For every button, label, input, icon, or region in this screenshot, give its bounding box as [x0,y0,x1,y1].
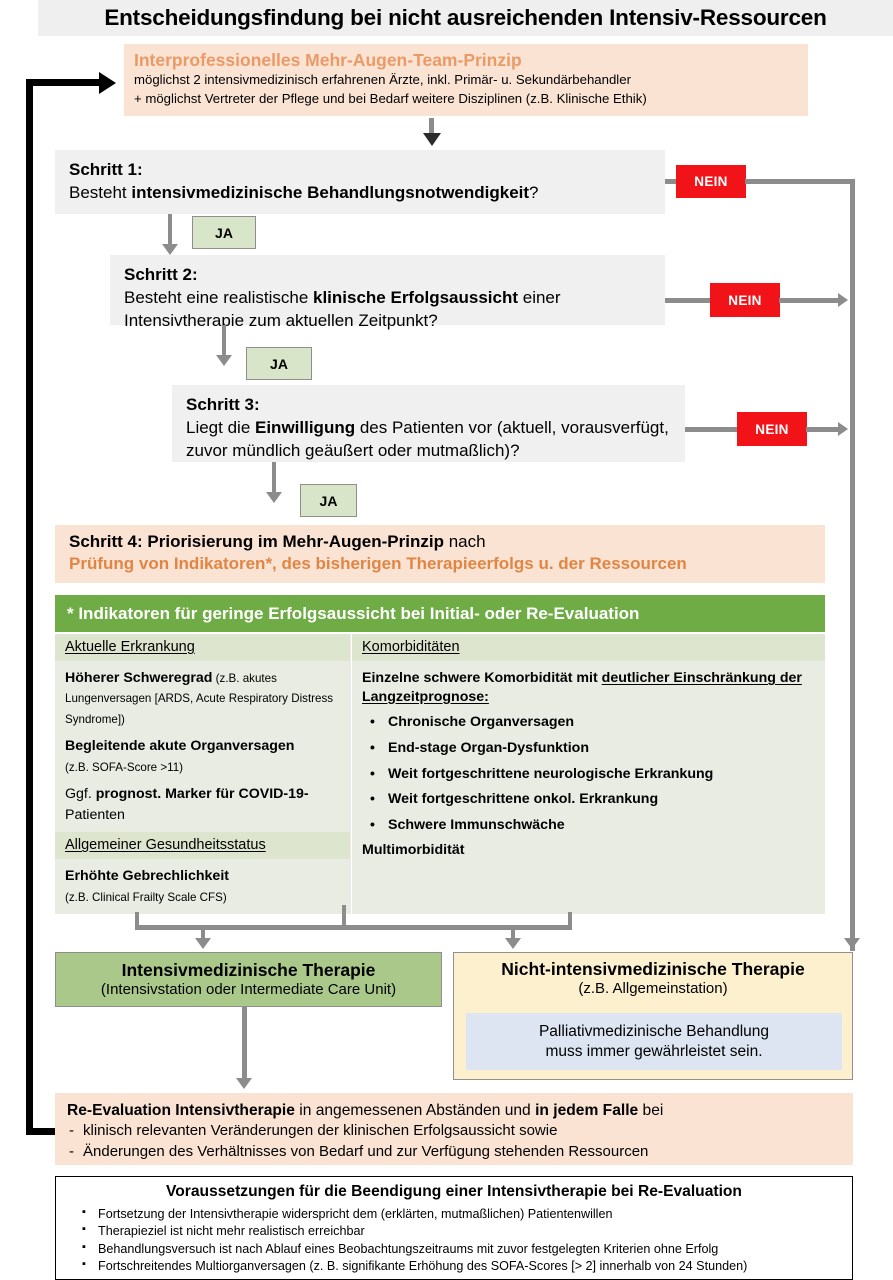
step-2-yes-arrowhead [216,355,232,366]
prerequisites-list: Fortsetzung der Intensivtherapie widersp… [56,1206,852,1275]
list-item: Weit fortgeschrittene neurologische Erkr… [362,766,815,783]
step-1-no-label: NEIN [694,174,727,189]
reevaluation-lead-mid: in angemessenen Abständen und [295,1102,535,1119]
step-3-label: Schritt 3: [186,394,671,416]
indicator-item: Höherer Schweregrad (z.B. akutes Lungenv… [65,668,340,729]
page-title-text: Entscheidungsfindung bei nicht ausreiche… [104,5,826,31]
connector-icu-to-reevaluation [242,1007,247,1080]
reevaluation-lead: Re-Evaluation Intensivtherapie in angeme… [67,1100,853,1121]
step-4-line-1-bold: Schritt 4: Priorisierung im Mehr-Augen-P… [69,532,444,551]
indicators-column-current-illness: Aktuelle Erkrankung Höherer Schweregrad … [55,634,350,914]
non-icu-therapy-subtitle: (z.B. Allgemeinstation) [454,980,852,998]
step-2-yes-label: JA [270,356,288,372]
section-header-general-health-text: Allgemeiner Gesundheitsstatus [65,837,266,853]
feedback-loop-vertical [26,79,33,1135]
icu-therapy-subtitle: (Intensivstation oder Intermediate Care … [101,981,396,999]
outcome-bracket-arrow-right [505,938,521,949]
indicator-item-bold: Erhöhte Gebrechlichkeit [65,868,229,884]
list-item: Therapieziel ist nicht mehr realistisch … [56,1223,852,1240]
list-item: Fortschreitendes Multiorganversagen (z. … [56,1258,852,1275]
step-1-label: Schritt 1: [69,159,651,181]
connector-icu-to-reevaluation-arrowhead [236,1078,252,1089]
step-3-no-label: NEIN [755,422,788,437]
outcome-bracket-stub-left [135,912,139,926]
indicators-header-text: * Indikatoren für geringe Erfolgsaussich… [67,604,639,624]
non-icu-therapy-box: Nicht-intensivmedizinische Therapie (z.B… [453,952,853,1080]
non-icu-therapy-heading: Nicht-intensivmedizinische Therapie [454,959,852,980]
section-header-general-health: Allgemeiner Gesundheitsstatus [55,832,350,859]
comorbidity-lead: Einzelne schwere Komorbidität mit deutli… [362,669,815,706]
step-3-no-line-out [806,427,839,432]
palliative-care-note: Palliativmedizinische Behandlung muss im… [466,1013,842,1070]
step-2-no-arrowhead [838,293,848,307]
indicator-item-detail: (z.B. SOFA-Score >11) [65,761,183,774]
step-1-question: Besteht intensivmedizinische Behandlungs… [69,183,539,202]
step-1-no-line-out [745,179,855,184]
flowchart-canvas: Entscheidungsfindung bei nicht ausreiche… [0,0,893,1280]
list-item: Weit fortgeschrittene onkol. Erkrankung [362,791,815,808]
step-2-question: Besteht eine realistische klinische Erfo… [124,288,561,330]
indicators-table: Aktuelle Erkrankung Höherer Schweregrad … [55,634,825,914]
step-1-question-emphasis: intensivmedizinische Behandlungsnotwendi… [131,183,529,202]
reevaluation-lead-bold-2: in jedem Falle [535,1102,638,1119]
indicators-column-comorbidities: Komorbiditäten Einzelne schwere Komorbid… [351,634,825,914]
list-item: Änderungen des Verhältnisses von Bedarf … [67,1142,853,1163]
step-1-yes-arrowhead [162,244,178,255]
reevaluation-box: Re-Evaluation Intensivtherapie in angeme… [55,1093,853,1165]
step-3-no-line-in [685,427,739,432]
step-1-yes-line [168,214,172,247]
no-branch-trunk-vertical [850,179,855,951]
team-line-1: möglichst 2 intensivmedizinisch erfahren… [134,71,798,90]
indicator-item-bold: Höherer Schweregrad [65,670,212,686]
step-2-no-line-out [779,298,839,303]
step-3-question-emphasis: Einwilligung [255,418,355,437]
icu-therapy-heading: Intensivmedizinische Therapie [122,960,376,981]
step-4-line-2: Prüfung von Indikatoren*, des bisherigen… [69,553,825,575]
step-1-question-pre: Besteht [69,183,131,202]
step-4-line-1: Schritt 4: Priorisierung im Mehr-Augen-P… [69,531,825,553]
palliative-care-line-2: muss immer gewährleistet sein. [545,1042,762,1062]
step-2-no-label: NEIN [728,293,761,308]
step-1-no-badge[interactable]: NEIN [676,165,746,198]
reevaluation-lead-end: bei [638,1102,663,1119]
step-2-yes-line [222,325,226,358]
indicators-header: * Indikatoren für geringe Erfolgsaussich… [55,595,825,632]
feedback-loop-arrowhead [99,72,116,94]
section-header-current-illness: Aktuelle Erkrankung [55,634,350,661]
step-1-yes-badge[interactable]: JA [192,216,256,249]
comorbidity-lead-pre: Einzelne schwere Komorbidität mit [362,670,602,686]
indicator-item-prefix: Ggf. [65,786,96,802]
indicator-item-bold: prognost. Marker für COVID-19- [96,786,309,802]
step-3-yes-arrowhead [266,492,282,503]
interprofessional-team-box: Interprofessionelles Mehr-Augen-Team-Pri… [124,44,808,116]
list-item: klinisch relevanten Veränderungen der kl… [67,1121,853,1142]
step-3-no-badge[interactable]: NEIN [737,412,807,446]
step-2-yes-badge[interactable]: JA [246,347,312,380]
palliative-care-line-1: Palliativmedizinische Behandlung [539,1022,769,1042]
list-item: Behandlungsversuch ist nach Ablauf eines… [56,1241,852,1258]
step-3-yes-label: JA [320,493,338,509]
section-header-current-illness-text: Aktuelle Erkrankung [65,639,195,655]
section-body-current-illness: Höherer Schweregrad (z.B. akutes Lungenv… [55,661,350,825]
step-3-question: Liegt die Einwilligung des Patienten vor… [186,418,669,460]
feedback-loop-top-horizontal [26,79,100,86]
prerequisites-heading: Voraussetzungen für die Beendigung einer… [56,1183,852,1201]
outcome-bracket-arrow-left [195,938,211,949]
step-2-label: Schritt 2: [124,264,651,286]
indicator-item: Ggf. prognost. Marker für COVID-19-Patie… [65,784,340,825]
outcome-bracket-stub-right [568,912,572,926]
comorbidity-final: Multimorbidität [362,842,815,858]
indicator-item: Begleitende akute Organversagen(z.B. SOF… [65,736,340,777]
indicator-item-bold: Begleitende akute Organversagen [65,738,294,754]
reevaluation-lead-bold: Re-Evaluation Intensivtherapie [67,1102,295,1119]
step-4-box: Schritt 4: Priorisierung im Mehr-Augen-P… [55,525,825,583]
step-1-box: Schritt 1: Besteht intensivmedizinische … [55,150,665,214]
list-item: Chronische Organversagen [362,714,815,731]
step-1-yes-label: JA [215,225,233,241]
team-line-2: + möglichst Vertreter der Pflege und bei… [134,90,798,109]
step-2-no-badge[interactable]: NEIN [710,283,780,317]
list-item: End-stage Organ-Dysfunktion [362,740,815,757]
section-header-comorbidities: Komorbiditäten [352,634,825,661]
step-3-yes-line [272,462,276,495]
step-2-box: Schritt 2: Besteht eine realistische kli… [110,255,665,325]
list-item: Schwere Immunschwäche [362,817,815,834]
section-body-comorbidities: Einzelne schwere Komorbidität mit deutli… [352,661,825,858]
page-title: Entscheidungsfindung bei nicht ausreiche… [38,0,893,36]
indicator-item: Erhöhte Gebrechlichkeit(z.B. Clinical Fr… [65,866,340,907]
comorbidity-list: Chronische Organversagen End-stage Organ… [362,714,815,833]
no-branch-trunk-arrowhead [844,938,860,949]
step-3-box: Schritt 3: Liegt die Einwilligung des Pa… [172,385,685,462]
indicator-item-suffix: Patienten [65,807,125,823]
icu-therapy-box: Intensivmedizinische Therapie (Intensivs… [55,952,442,1007]
step-2-question-emphasis: klinische Erfolgsaussicht [313,288,518,307]
outcome-bracket-stub-middle [342,905,346,926]
step-3-no-arrowhead [838,422,848,436]
step-2-question-pre: Besteht eine realistische [124,288,313,307]
section-header-comorbidities-text: Komorbiditäten [362,639,460,655]
step-3-yes-badge[interactable]: JA [300,484,357,517]
step-2-no-line-in [665,298,712,303]
list-item: Fortsetzung der Intensivtherapie widersp… [56,1206,852,1223]
connector-team-to-step1-arrowhead [423,133,441,146]
step-3-question-pre: Liegt die [186,418,255,437]
step-1-question-post: ? [529,183,538,202]
section-body-general-health: Erhöhte Gebrechlichkeit(z.B. Clinical Fr… [55,859,350,907]
prerequisites-box: Voraussetzungen für die Beendigung einer… [55,1176,853,1280]
step-4-line-1-rest: nach [444,532,486,551]
team-heading: Interprofessionelles Mehr-Augen-Team-Pri… [134,50,798,71]
indicator-item-detail: (z.B. Clinical Frailty Scale CFS) [65,891,227,904]
